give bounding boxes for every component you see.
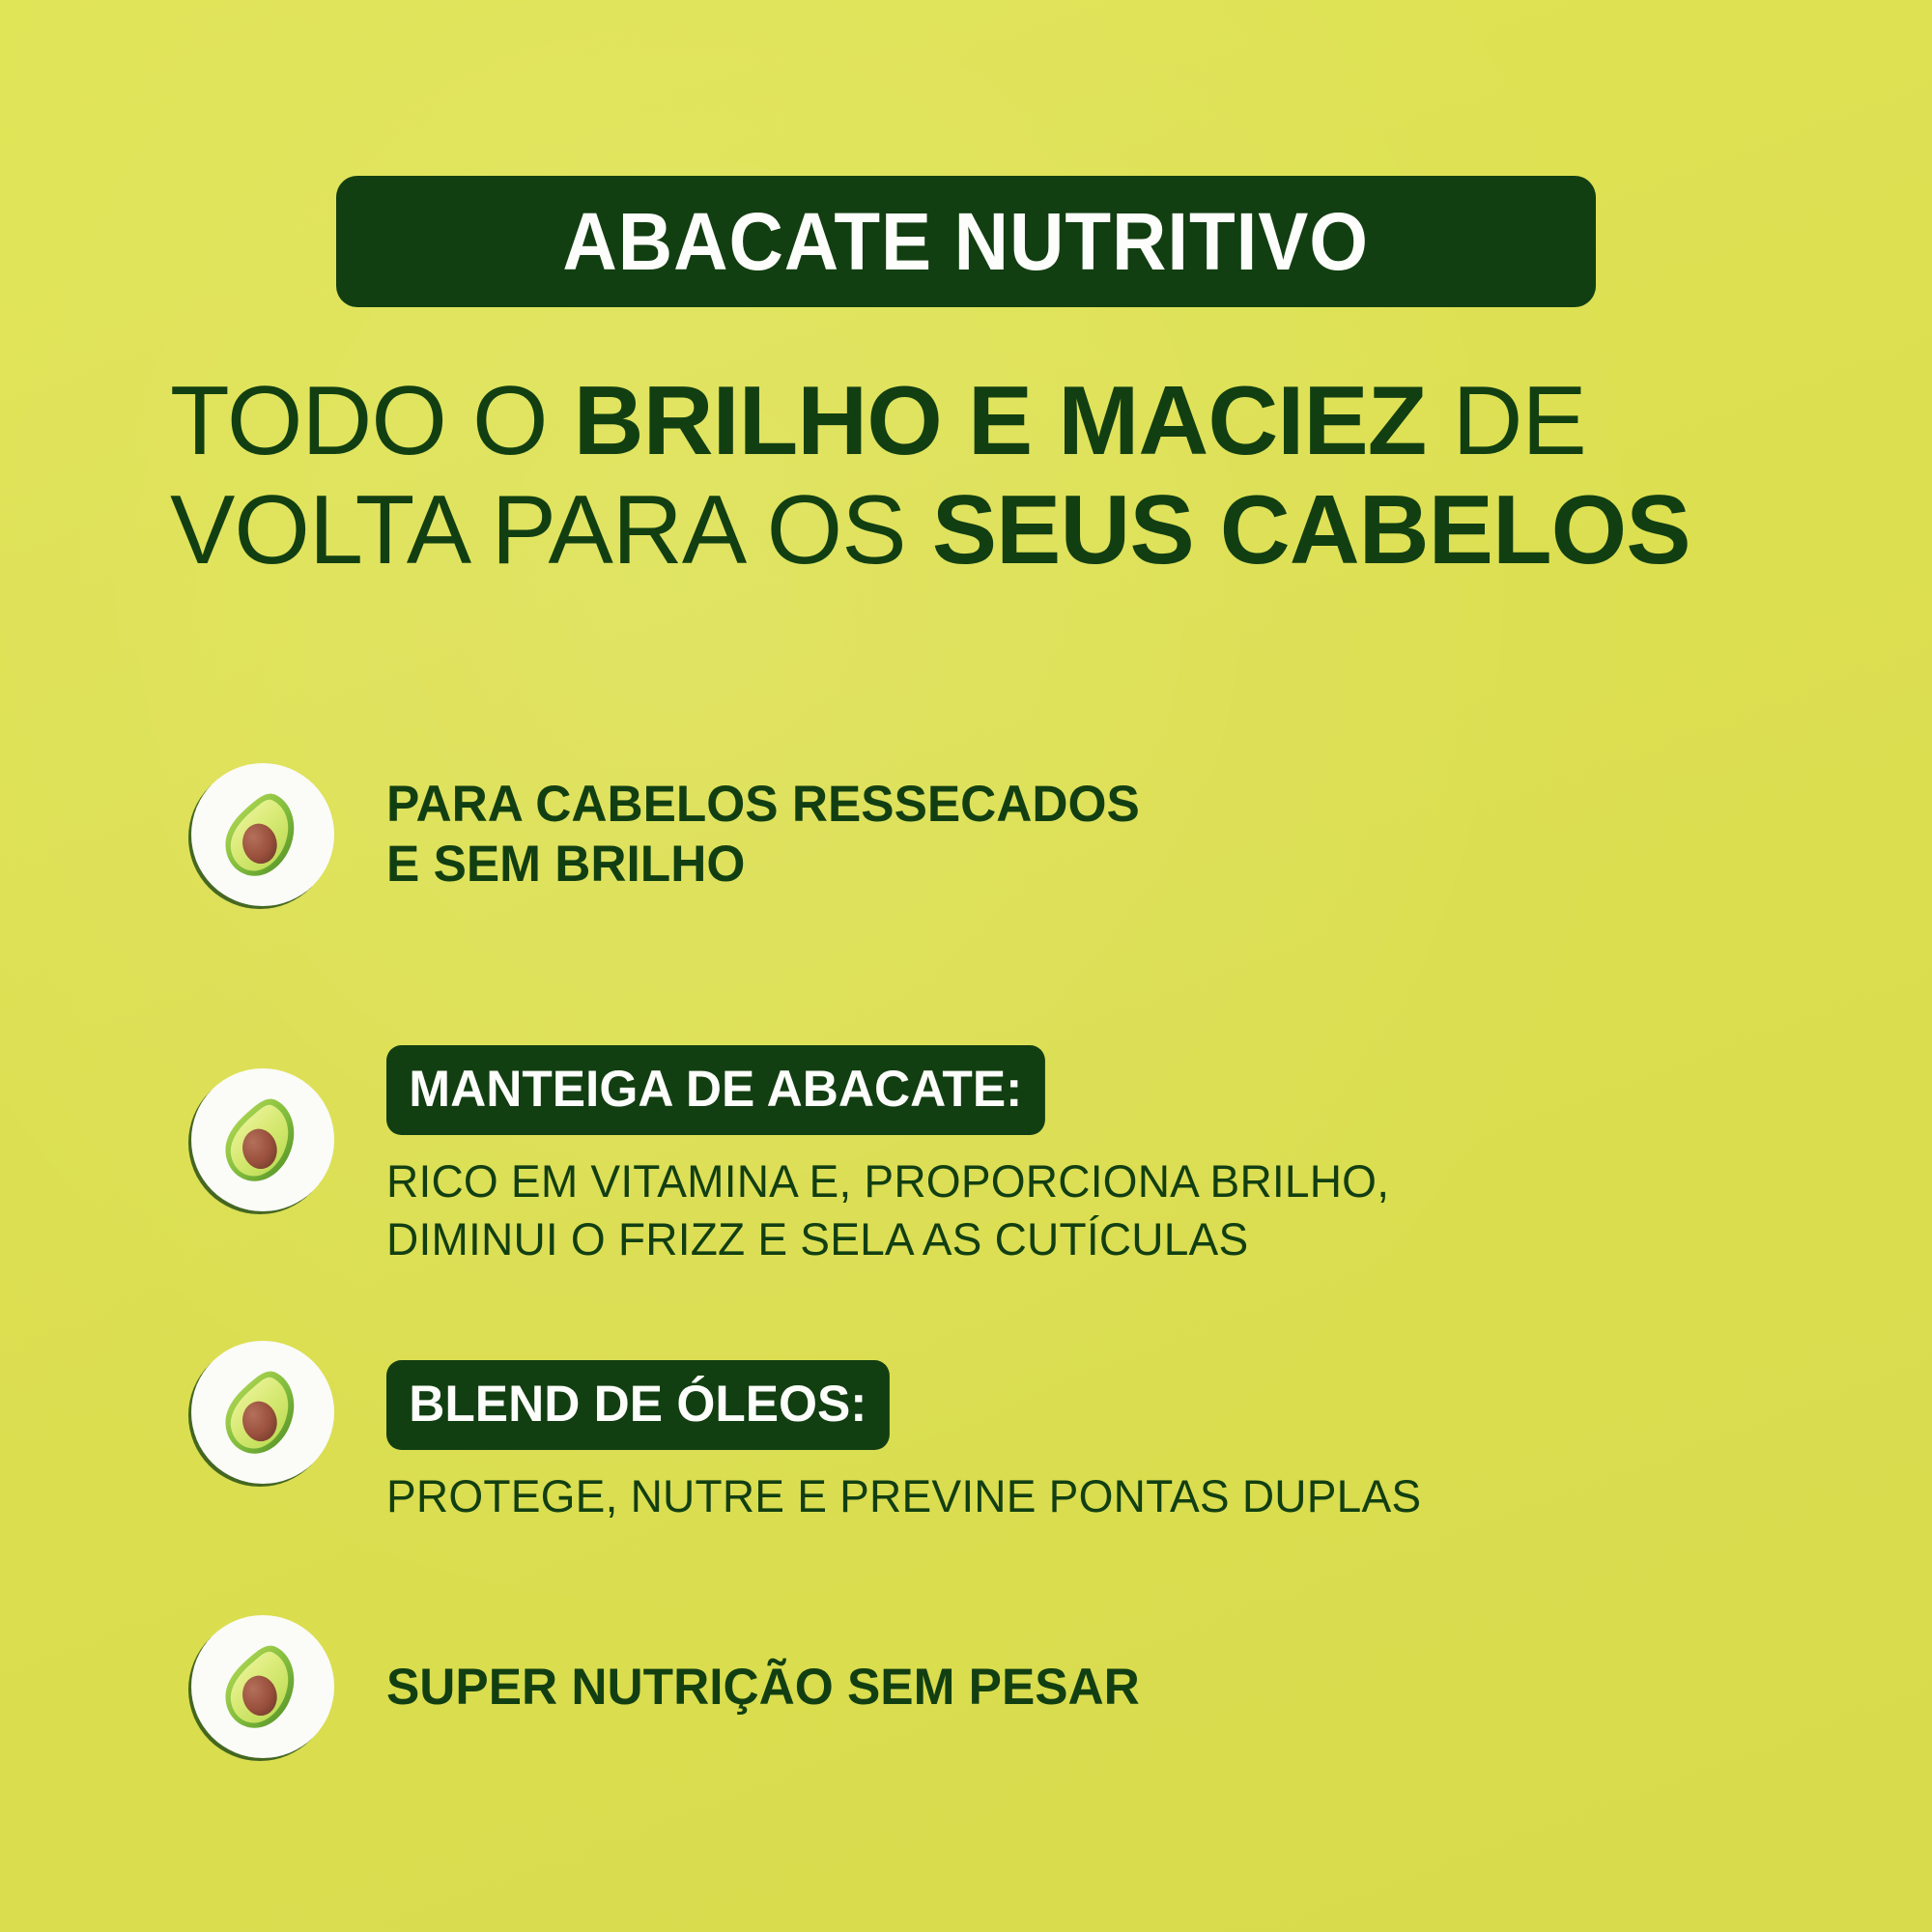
benefit-heading-4-line-1: SUPER NUTRIÇÃO SEM PESAR xyxy=(386,1658,1830,1718)
page-title: TODO O BRILHO E MACIEZ DE VOLTA PARA OS … xyxy=(170,367,1812,585)
headline-line-1-light-a: TODO O xyxy=(170,367,574,475)
headline-line-1-bold: BRILHO E MACIEZ xyxy=(574,367,1427,475)
benefit-heading-1-line-1: PARA CABELOS RESSECADOS xyxy=(386,775,1830,835)
title-badge-label: ABACATE NUTRITIVO xyxy=(563,201,1370,282)
headline-line-1: TODO O BRILHO E MACIEZ DE xyxy=(170,367,1812,476)
headline-line-2-bold: SEUS CABELOS xyxy=(932,476,1690,584)
benefit-heading-4: SUPER NUTRIÇÃO SEM PESAR xyxy=(386,1658,1830,1718)
headline-line-2: VOLTA PARA OS SEUS CABELOS xyxy=(170,476,1812,585)
benefit-body-2: MANTEIGA DE ABACATE: RICO EM VITAMINA E,… xyxy=(386,1045,1874,1268)
benefit-pill-3: BLEND DE ÓLEOS: xyxy=(386,1360,890,1450)
avocado-icon xyxy=(191,1615,334,1758)
benefit-pill-2: MANTEIGA DE ABACATE: xyxy=(386,1045,1045,1135)
avocado-icon-wrap-4 xyxy=(191,1615,334,1758)
avocado-icon-wrap-2 xyxy=(191,1068,334,1211)
title-badge: ABACATE NUTRITIVO xyxy=(336,176,1596,307)
benefit-description-2-line-1: RICO EM VITAMINA E, PROPORCIONA BRILHO, xyxy=(386,1152,1844,1210)
avocado-icon xyxy=(191,1341,334,1484)
benefit-description-2-line-2: DIMINUI O FRIZZ E SELA AS CUTÍCULAS xyxy=(386,1210,1844,1268)
benefit-body-4: SUPER NUTRIÇÃO SEM PESAR xyxy=(386,1658,1874,1718)
headline-line-2-light: VOLTA PARA OS xyxy=(170,476,932,584)
promo-banner: ABACATE NUTRITIVO TODO O BRILHO E MACIEZ… xyxy=(0,0,1932,1932)
benefit-description-2: RICO EM VITAMINA E, PROPORCIONA BRILHO, … xyxy=(386,1152,1844,1268)
benefit-body-3: BLEND DE ÓLEOS: PROTEGE, NUTRE E PREVINE… xyxy=(386,1360,1874,1525)
avocado-icon-wrap-1 xyxy=(191,763,334,906)
avocado-icon xyxy=(191,763,334,906)
benefit-description-3: PROTEGE, NUTRE E PREVINE PONTAS DUPLAS xyxy=(386,1467,1844,1525)
benefit-body-1: PARA CABELOS RESSECADOS E SEM BRILHO xyxy=(386,775,1874,895)
avocado-icon-wrap-3 xyxy=(191,1341,334,1484)
benefit-heading-1: PARA CABELOS RESSECADOS E SEM BRILHO xyxy=(386,775,1830,895)
benefit-heading-1-line-2: E SEM BRILHO xyxy=(386,835,1830,895)
headline-line-1-light-b: DE xyxy=(1426,367,1585,475)
benefit-description-3-line-1: PROTEGE, NUTRE E PREVINE PONTAS DUPLAS xyxy=(386,1467,1844,1525)
avocado-icon xyxy=(191,1068,334,1211)
